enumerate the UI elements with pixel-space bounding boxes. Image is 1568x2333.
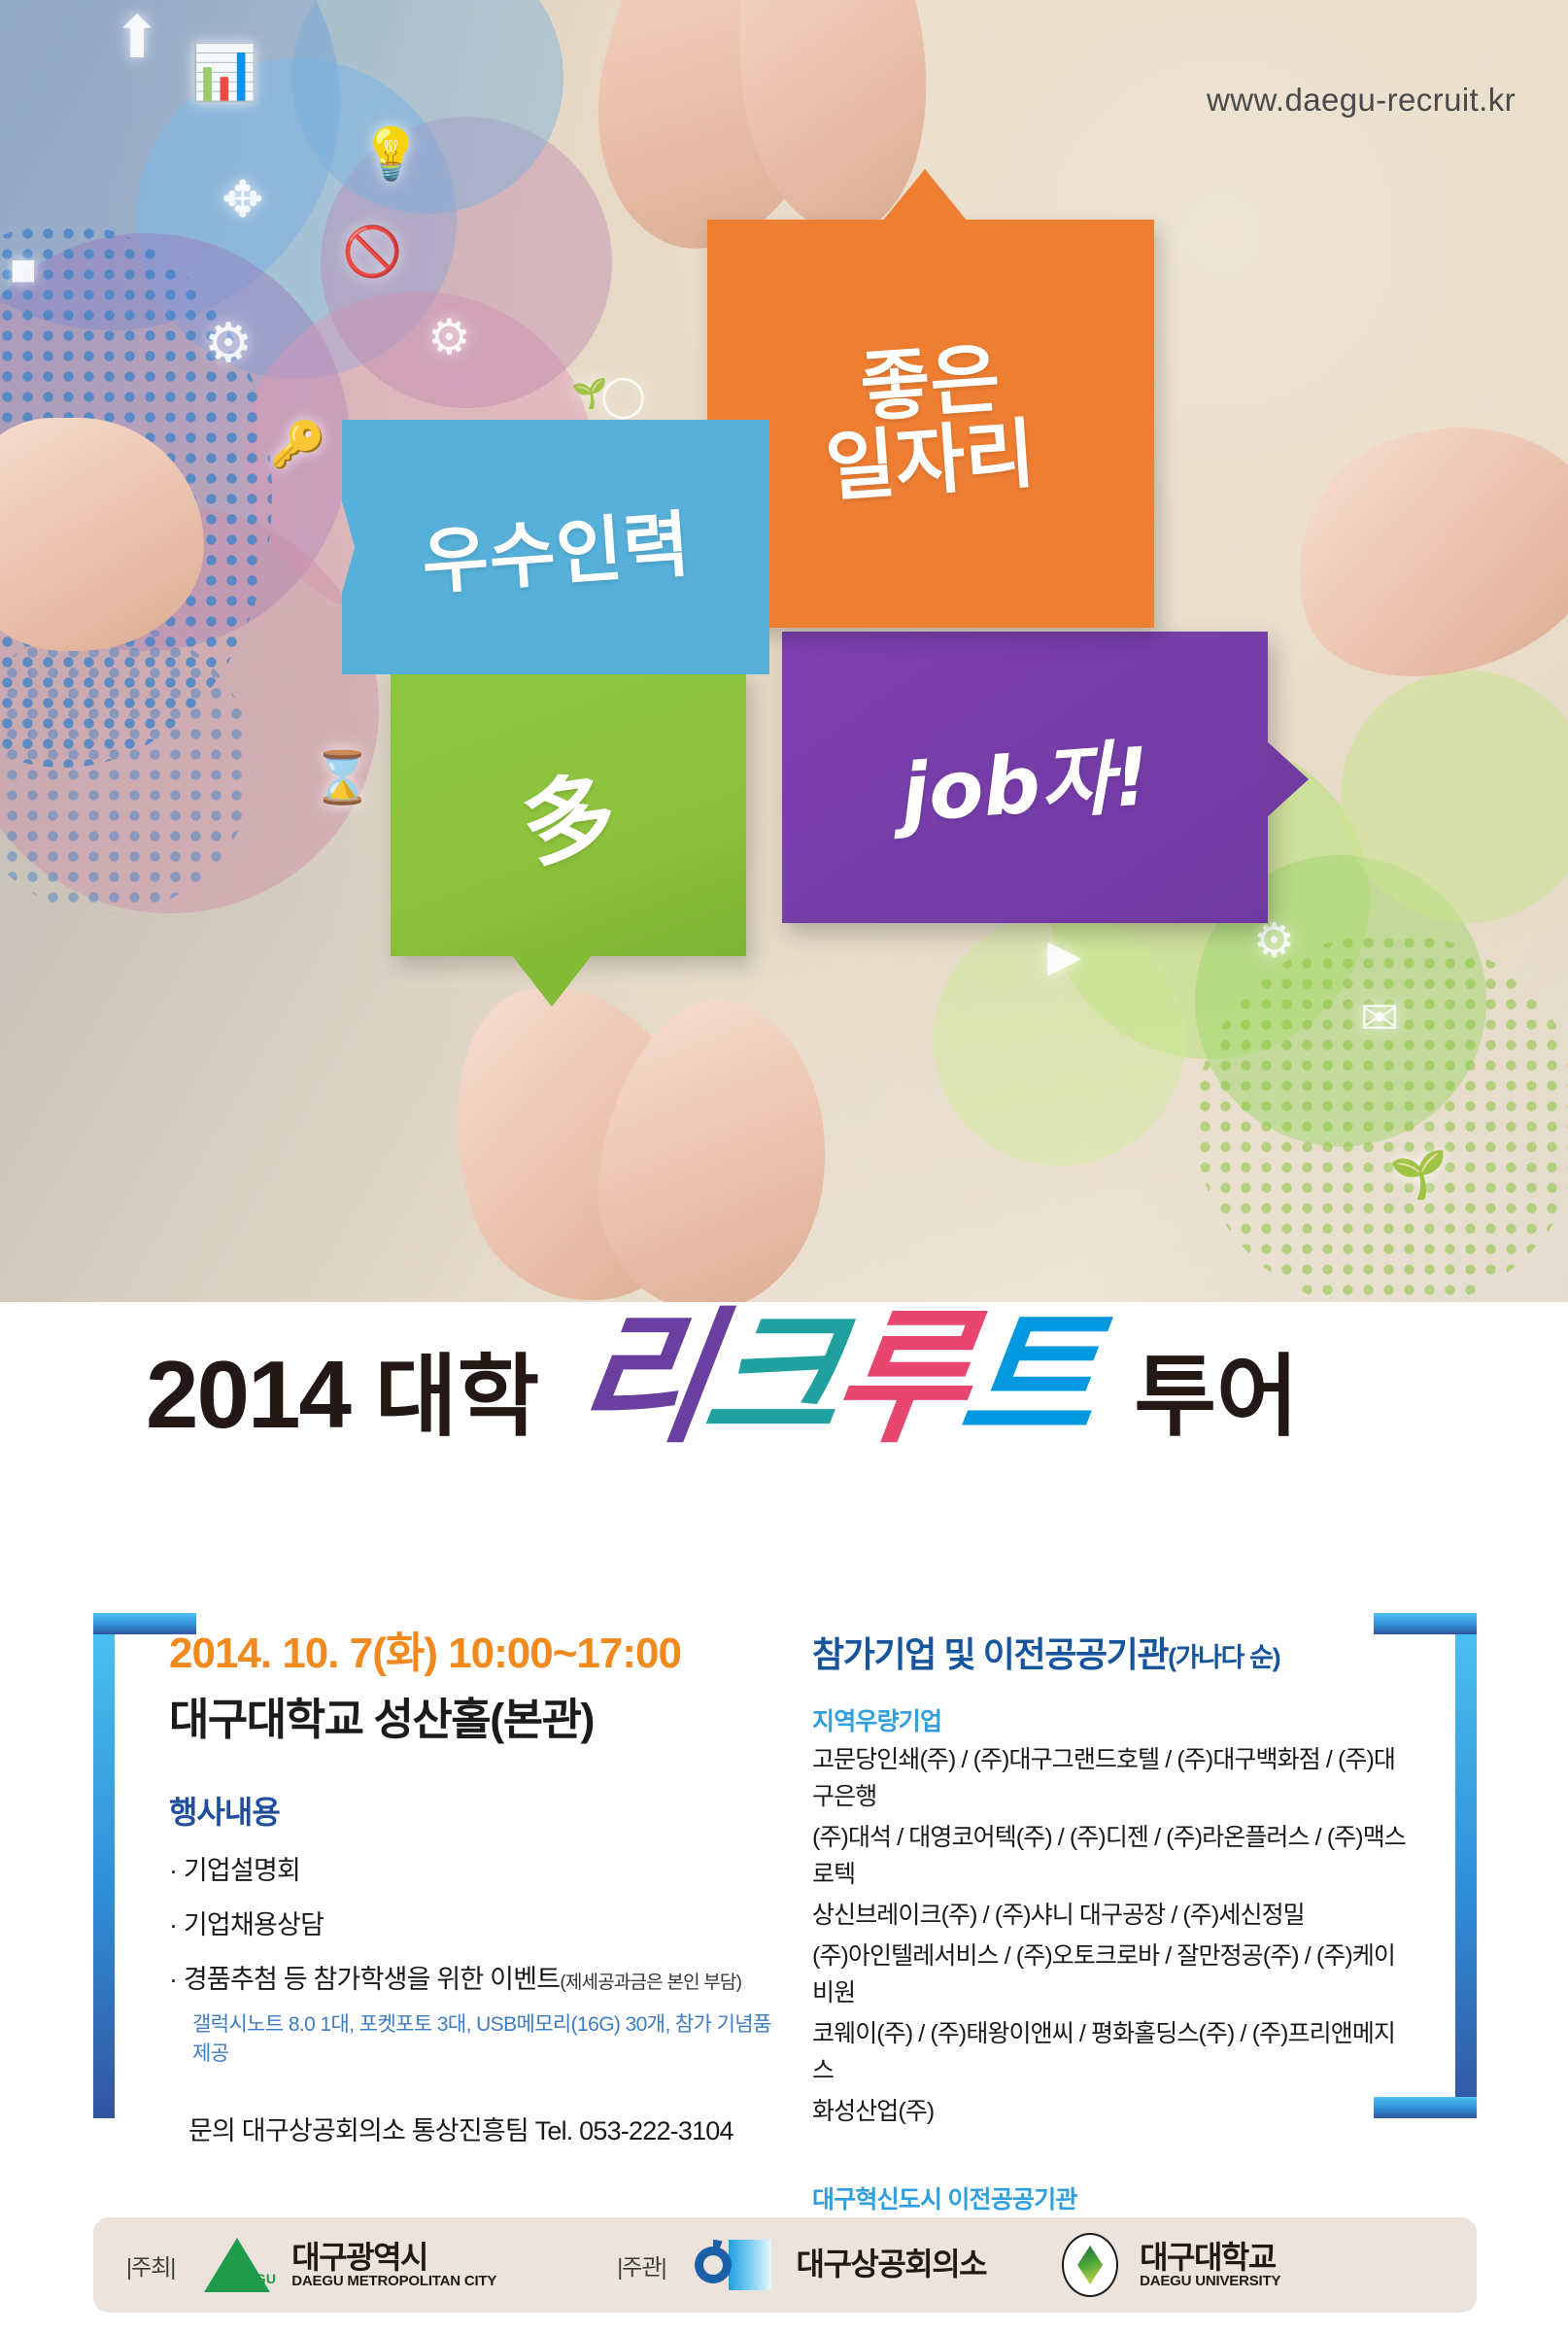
envelope-icon: ✉ bbox=[1360, 991, 1399, 1046]
organizer-name-kr: 대구상공회의소 bbox=[797, 2247, 987, 2282]
logo-char-3: 루 bbox=[826, 1314, 972, 1442]
event-date: 2014. 10. 7(화) 10:00~17:00 bbox=[169, 1627, 791, 1680]
hero-banner: ⬆ 📊 💡 ✥ 🚫 ■ ⚙ ⚙ 🔑 ◯ 🌱 ⌛ ▶ ⚙ ✉ 🌱 좋은 일자리 우… bbox=[0, 0, 1568, 1302]
university-group: 대구대학교 DAEGU UNIVERSITY bbox=[1062, 2233, 1280, 2297]
program-item-2: · 기업채용상담 bbox=[169, 1910, 324, 1939]
speech-bubble-blue: 우수인력 bbox=[342, 420, 769, 674]
play-icon: ▶ bbox=[1047, 929, 1081, 981]
hourglass-icon: ⌛ bbox=[311, 748, 374, 807]
bubble-purple-text: job자! bbox=[897, 711, 1153, 844]
company-line: 화성산업(주) bbox=[812, 2093, 1415, 2130]
title-logo-recruit: 리 크 루 트 bbox=[578, 1314, 1091, 1442]
bubble-blue-text: 우수인력 bbox=[418, 486, 693, 608]
leaf-icon: 🌱 bbox=[571, 377, 607, 411]
daegu-university-seal-icon bbox=[1062, 2233, 1118, 2297]
list-item: · 기업설명회 bbox=[169, 1849, 791, 1887]
university-name-kr: 대구대학교 bbox=[1140, 2240, 1276, 2275]
daegu-mark-label: DAEGU bbox=[222, 2271, 280, 2286]
company-line: (주)대석 / 대영코어텍(주) / (주)디젠 / (주)라온플러스 / (주… bbox=[812, 1819, 1415, 1893]
up-arrow-icon: ⬆ bbox=[113, 4, 161, 72]
group2-label: 대구혁신도시 이전공공기관 bbox=[812, 2180, 1415, 2215]
footer-sponsors: |주최| DAEGU 대구광역시 DAEGU METROPOLITAN CITY… bbox=[93, 2217, 1477, 2313]
poster-root: ⬆ 📊 💡 ✥ 🚫 ■ ⚙ ⚙ 🔑 ◯ 🌱 ⌛ ▶ ⚙ ✉ 🌱 좋은 일자리 우… bbox=[0, 0, 1568, 2333]
website-url[interactable]: www.daegu-recruit.kr bbox=[1207, 82, 1516, 119]
no-entry-icon: 🚫 bbox=[342, 223, 402, 281]
gear-icon: ⚙ bbox=[204, 311, 253, 375]
program-heading: 행사내용 bbox=[169, 1788, 791, 1833]
title-tour: 투어 bbox=[1134, 1353, 1298, 1442]
host-name-kr: 대구광역시 bbox=[291, 2240, 427, 2275]
company-line: (주)아인텔레서비스 / (주)오토크로바 / 잘만정공(주) / (주)케이비… bbox=[812, 1938, 1415, 2011]
leaf-icon: 🌱 bbox=[1389, 1147, 1448, 1202]
title-year: 2014 bbox=[146, 1347, 350, 1442]
contact-line[interactable]: 문의 대구상공회의소 통상진흥팀 Tel. 053-222-3104 bbox=[188, 2110, 791, 2147]
host-group: |주최| DAEGU 대구광역시 DAEGU METROPOLITAN CITY bbox=[93, 2238, 496, 2292]
chamber-of-commerce-logo-icon bbox=[688, 2240, 771, 2290]
participants-heading-main: 참가기업 및 이전공공기관 bbox=[812, 1634, 1168, 1674]
list-item: · 기업채용상담 bbox=[169, 1904, 791, 1941]
program-item-3-note: (제세공과금은 본인 부담) bbox=[560, 1973, 741, 1993]
speech-bubble-green: 多 bbox=[391, 669, 746, 956]
speech-bubble-orange: 좋은 일자리 bbox=[707, 220, 1154, 628]
prize-line: 갤럭시노트 8.0 1대, 포켓포토 3대, USB메모리(16G) 30개, … bbox=[192, 2008, 791, 2067]
bubble-green-text: 多 bbox=[513, 738, 624, 885]
host-name-en: DAEGU METROPOLITAN CITY bbox=[291, 2274, 496, 2289]
company-line: 고문당인쇄(주) / (주)대구그랜드호텔 / (주)대구백화점 / (주)대구… bbox=[812, 1741, 1415, 1815]
participants-column: 참가기업 및 이전공공기관(가나다 순) 지역우량기업 고문당인쇄(주) / (… bbox=[812, 1627, 1415, 2254]
speech-bubble-purple: job자! bbox=[782, 632, 1268, 923]
host-name: 대구광역시 DAEGU METROPOLITAN CITY bbox=[291, 2242, 496, 2289]
lightbulb-icon: 💡 bbox=[359, 124, 423, 184]
bubble-orange-line2: 일자리 bbox=[824, 417, 1038, 508]
event-place: 대구대학교 성산홀(본관) bbox=[169, 1684, 791, 1747]
logo-char-2: 크 bbox=[698, 1314, 844, 1442]
logo-char-4: 트 bbox=[954, 1314, 1101, 1442]
organizer-name: 대구상공회의소 bbox=[797, 2248, 987, 2281]
company-line: 코웨이(주) / (주)태왕이앤씨 / 평화홀딩스(주) / (주)프리앤메지스 bbox=[812, 2015, 1415, 2089]
logo-char-1: 리 bbox=[569, 1314, 716, 1442]
participants-heading: 참가기업 및 이전공공기관(가나다 순) bbox=[812, 1627, 1415, 1677]
group1-label: 지역우량기업 bbox=[812, 1702, 1415, 1737]
participants-heading-note: (가나다 순) bbox=[1168, 1643, 1279, 1672]
battery-icon: ■ bbox=[10, 243, 37, 295]
decor-dot-pattern bbox=[1195, 933, 1568, 1302]
title-univ: 대학 bbox=[375, 1353, 539, 1442]
key-icon: 🔑 bbox=[270, 418, 325, 471]
university-name-en: DAEGU UNIVERSITY bbox=[1140, 2274, 1280, 2289]
list-item: · 경품추첨 등 참가학생을 위한 이벤트(제세공과금은 본인 부담) bbox=[169, 1958, 791, 1996]
program-item-3: · 경품추첨 등 참가학생을 위한 이벤트 bbox=[169, 1965, 560, 1994]
organizer-tag: |주관| bbox=[617, 2248, 665, 2282]
move-arrows-icon: ✥ bbox=[222, 171, 264, 229]
program-item-1: · 기업설명회 bbox=[169, 1856, 300, 1885]
page-title: 2014 대학 리 크 루 트 투어 bbox=[0, 1314, 1568, 1518]
hand-right bbox=[1262, 386, 1568, 713]
event-details-column: 2014. 10. 7(화) 10:00~17:00 대구대학교 성산홀(본관)… bbox=[169, 1627, 791, 2147]
cog-icon: ⚙ bbox=[427, 309, 471, 365]
university-name: 대구대학교 DAEGU UNIVERSITY bbox=[1140, 2242, 1280, 2289]
daegu-city-logo-icon: DAEGU bbox=[204, 2238, 270, 2292]
info-panel: 2014. 10. 7(화) 10:00~17:00 대구대학교 성산홀(본관)… bbox=[93, 1613, 1477, 2196]
host-tag: |주최| bbox=[126, 2248, 175, 2282]
bar-chart-icon: 📊 bbox=[190, 41, 258, 105]
company-line: 상신브레이크(주) / (주)샤니 대구공장 / (주)세신정밀 bbox=[812, 1897, 1415, 1934]
organizer-group: |주관| 대구상공회의소 bbox=[584, 2240, 986, 2290]
